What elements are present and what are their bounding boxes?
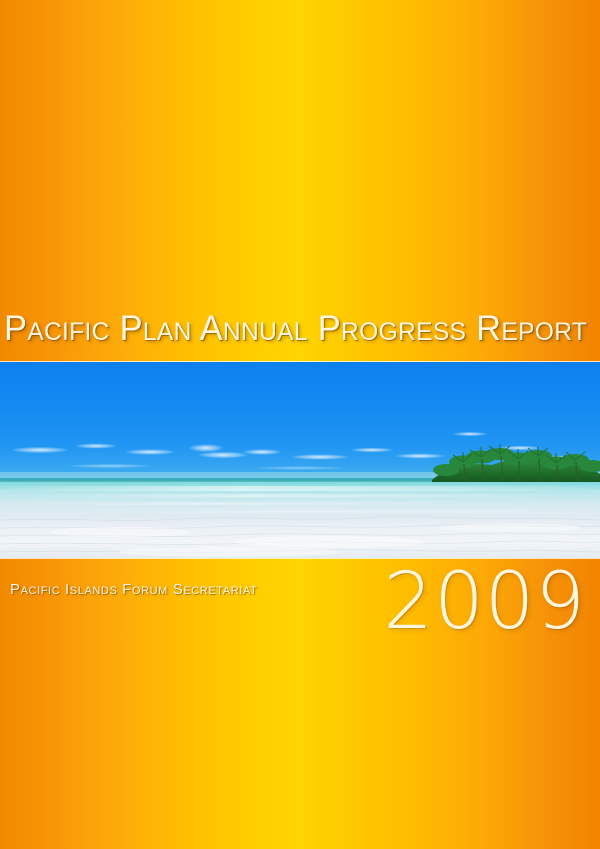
title-band: Pacific Plan Annual Progress Report — [0, 300, 600, 358]
cover-photograph — [0, 362, 600, 558]
report-year: 2009 — [383, 563, 586, 641]
beach-scene-illustration — [0, 362, 600, 558]
report-cover-page: Pacific Plan Annual Progress Report — [0, 0, 600, 849]
page-title: Pacific Plan Annual Progress Report — [0, 311, 591, 348]
organisation-name: Pacific Islands Forum Secretariat — [10, 581, 257, 598]
